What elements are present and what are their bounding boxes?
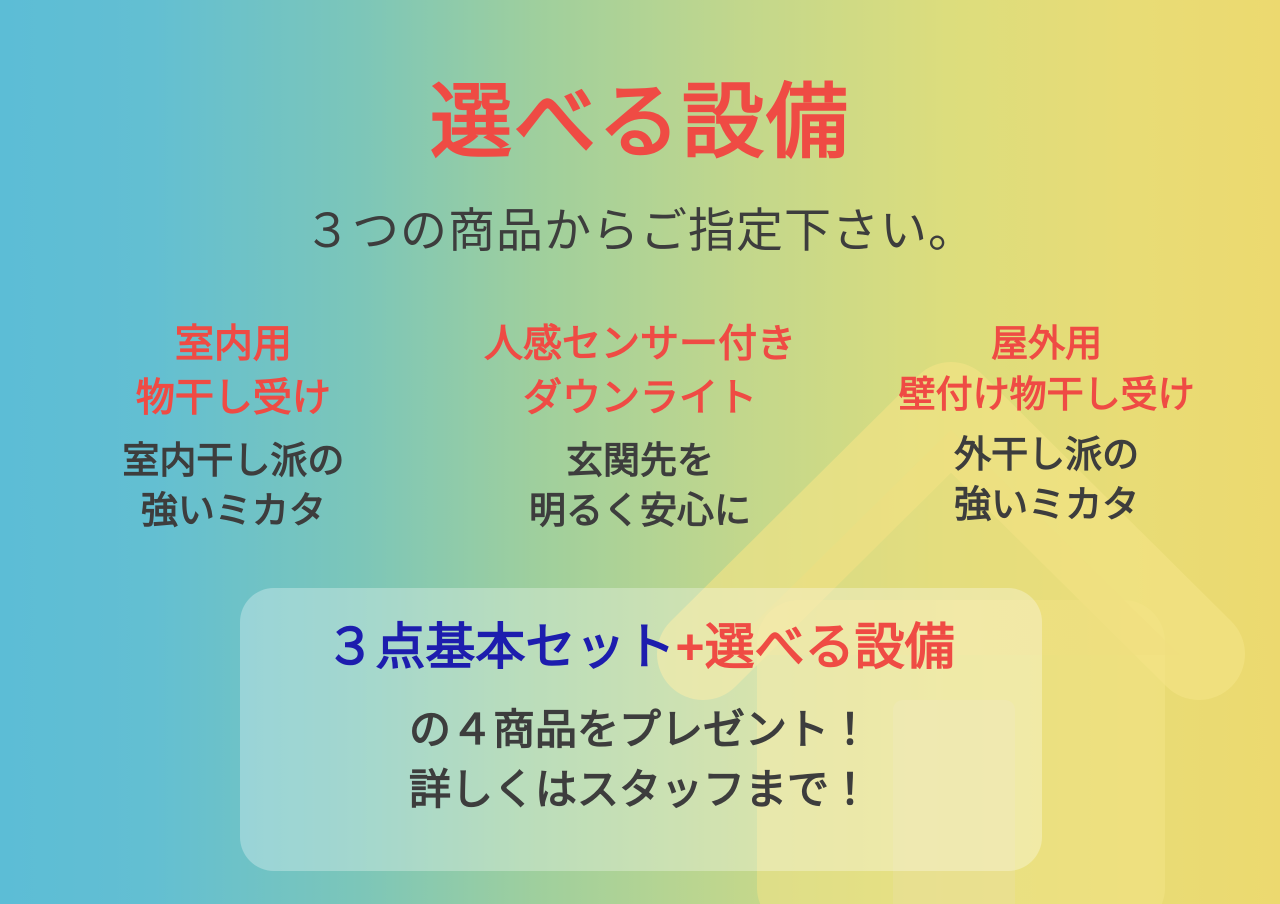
option-item-indoor[interactable]: 室内用 物干し受け 室内干し派の 強いミカタ — [30, 318, 437, 536]
option-list: 室内用 物干し受け 室内干し派の 強いミカタ 人感センサー付き ダウンライト 玄… — [30, 318, 1250, 536]
page-subtitle: ３つの商品からご指定下さい。 — [0, 205, 1280, 257]
option-description: 室内干し派の 強いミカタ — [34, 436, 433, 536]
offer-body-text: の４商品をプレゼント！ 詳しくはスタッフまで！ — [0, 700, 1280, 819]
option-name: 屋外用 壁付け物干し受け — [847, 318, 1246, 420]
offer-headline-secondary: +選べる設備 — [675, 619, 954, 675]
option-name: 人感センサー付き ダウンライト — [441, 318, 840, 426]
page-title: 選べる設備 — [0, 82, 1280, 164]
offer-headline-primary: ３点基本セット — [325, 619, 675, 675]
option-item-downlight[interactable]: 人感センサー付き ダウンライト 玄関先を 明るく安心に — [437, 318, 844, 536]
option-description: 玄関先を 明るく安心に — [441, 436, 840, 536]
promo-poster: 選べる設備 ３つの商品からご指定下さい。 室内用 物干し受け 室内干し派の 強い… — [0, 0, 1280, 904]
option-item-outdoor[interactable]: 屋外用 壁付け物干し受け 外干し派の 強いミカタ — [843, 318, 1250, 530]
option-description: 外干し派の 強いミカタ — [847, 430, 1246, 530]
offer-headline: ３点基本セット+選べる設備 — [0, 622, 1280, 672]
option-name: 室内用 物干し受け — [34, 318, 433, 426]
